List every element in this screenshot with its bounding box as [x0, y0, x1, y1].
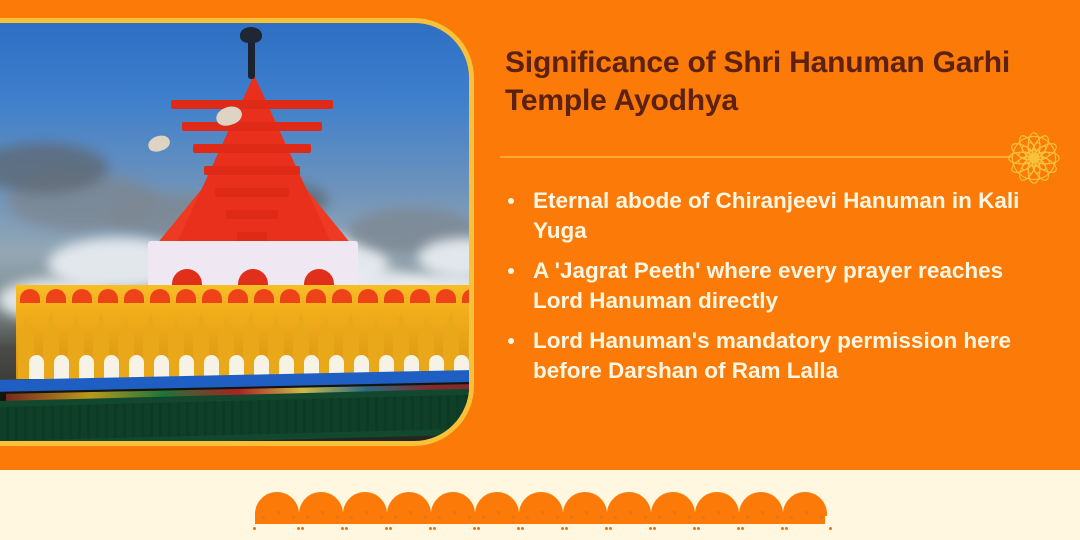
ornament-dot: [605, 527, 608, 530]
ornament-dot: [301, 527, 304, 530]
ornament-dot: [805, 511, 808, 514]
ornament-dot: [737, 527, 740, 530]
shikhara-tier: [204, 166, 300, 175]
ornament-dot: [761, 511, 764, 514]
bullet-item: Eternal abode of Chiranjeevi Hanuman in …: [500, 186, 1045, 246]
bullet-list: Eternal abode of Chiranjeevi Hanuman in …: [500, 186, 1045, 396]
ornament-dot: [297, 527, 300, 530]
ornament-dot: [517, 527, 520, 530]
shikhara-tier: [226, 210, 278, 219]
temple-photo: [0, 23, 469, 441]
ornament-dot: [521, 527, 524, 530]
base-window: [79, 355, 94, 379]
ornament-dot: [512, 516, 515, 519]
ornament-dot: [649, 527, 652, 530]
ornament-dot: [389, 527, 392, 530]
ornament-dot: [653, 527, 656, 530]
title-divider: [500, 156, 1012, 158]
ornament-dot: [468, 516, 471, 519]
shikhara-tier: [215, 188, 289, 197]
ornament-dot: [409, 511, 412, 514]
ornament-dot: [609, 527, 612, 530]
finial-flag: [240, 27, 262, 43]
ornament-dot: [585, 511, 588, 514]
ornament-dot: [321, 511, 324, 514]
ornament-dot: [781, 527, 784, 530]
ornament-dot: [365, 511, 368, 514]
ornament-dot: [741, 527, 744, 530]
ornament-dot: [717, 511, 720, 514]
ornament-dot: [345, 527, 348, 530]
ornament-dot: [277, 511, 280, 514]
ornament-dot: [561, 527, 564, 530]
ornament-dot: [565, 527, 568, 530]
temple-illustration: [0, 121, 469, 441]
temple-photo-frame: [0, 18, 474, 446]
ornament-dot: [600, 516, 603, 519]
ornament-dot: [693, 527, 696, 530]
base-window: [129, 355, 144, 379]
shikhara-tier: [182, 122, 322, 131]
ornament-dot: [776, 516, 779, 519]
ornament-dot: [673, 511, 676, 514]
ornament-dot: [785, 527, 788, 530]
shikhara-tier: [193, 144, 311, 153]
ornament-dot: [424, 516, 427, 519]
mandala-flower-icon: [998, 122, 1070, 194]
ornament-dot: [473, 527, 476, 530]
content-column: Significance of Shri Hanuman Garhi Templ…: [500, 0, 1060, 470]
temple-golden-base: [16, 303, 469, 379]
ornament-dot: [697, 527, 700, 530]
bullet-item: A 'Jagrat Peeth' where every prayer reac…: [500, 256, 1045, 316]
ornament-dot: [292, 516, 295, 519]
ornament-dot: [629, 511, 632, 514]
ornament-dot: [336, 516, 339, 519]
ornament-dot: [732, 516, 735, 519]
shikhara-tier: [171, 100, 333, 109]
ornament-dot: [429, 527, 432, 530]
ornament-dot: [433, 527, 436, 530]
slide-root: Significance of Shri Hanuman Garhi Templ…: [0, 0, 1080, 540]
ornament-dot: [820, 516, 823, 519]
ornament-dot: [497, 511, 500, 514]
base-window: [104, 355, 119, 379]
ornament-dot: [253, 527, 256, 530]
ornament-dot: [688, 516, 691, 519]
ornament-dot: [477, 527, 480, 530]
ornament-dot: [829, 527, 832, 530]
ornament-dot: [385, 527, 388, 530]
scalloped-arch-band: [255, 492, 825, 540]
ornament-dot: [644, 516, 647, 519]
page-title: Significance of Shri Hanuman Garhi Templ…: [505, 44, 1035, 121]
bullet-item: Lord Hanuman's mandatory permission here…: [500, 326, 1045, 386]
ornament-dot: [380, 516, 383, 519]
ornament-dot: [541, 511, 544, 514]
shikhara-tier: [237, 232, 267, 241]
ornament-dot: [341, 527, 344, 530]
ornament-dot: [556, 516, 559, 519]
base-window: [54, 355, 69, 379]
base-window: [29, 355, 44, 379]
ornament-dot: [453, 511, 456, 514]
